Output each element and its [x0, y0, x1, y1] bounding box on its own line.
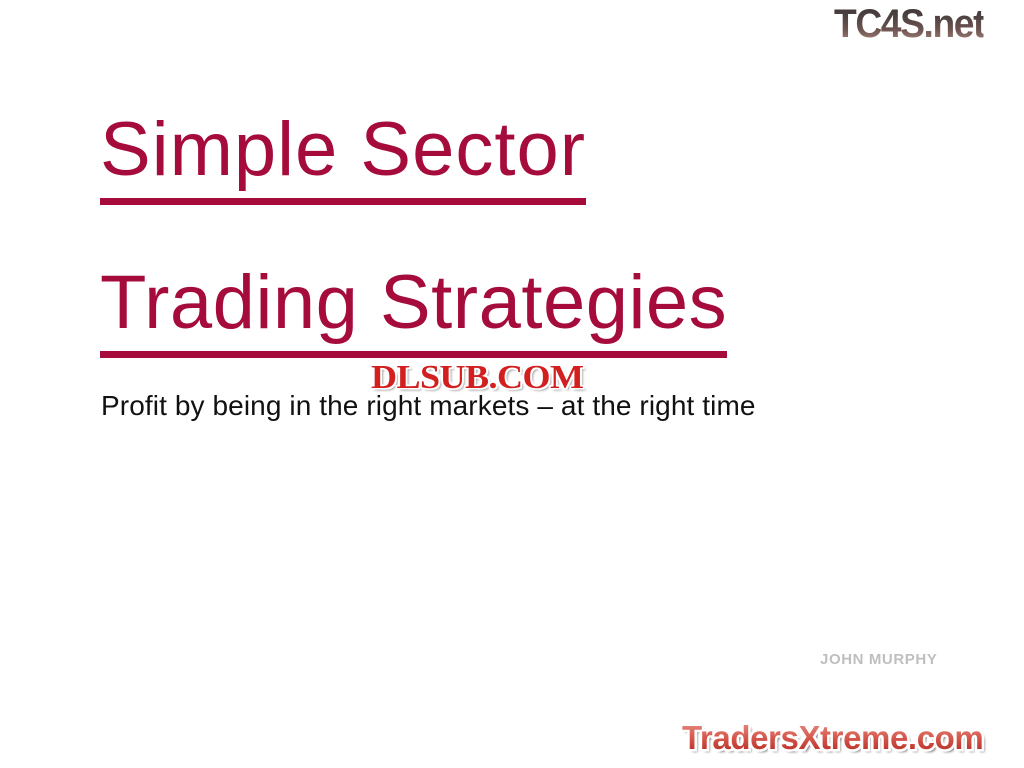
page-title: Simple Sector Trading Strategies [100, 104, 930, 358]
presentation-slide: TC4S.net Simple Sector Trading Strategie… [0, 0, 1024, 768]
title-line-1: Simple Sector [100, 104, 930, 205]
author-credit: JOHN MURPHY [820, 651, 937, 669]
title-line-1-text: Simple Sector [100, 109, 586, 205]
tc4s-logo: TC4S.net [834, 2, 984, 46]
title-line-2-text: Trading Strategies [100, 262, 727, 358]
tradersxtreme-watermark-text: TradersXtreme.com [682, 719, 983, 756]
dlsub-watermark: DLSUB.COM [371, 360, 583, 396]
tradersxtreme-watermark: TradersXtreme.com TradersXtreme.com [682, 718, 983, 758]
title-line-2: Trading Strategies [100, 257, 930, 358]
